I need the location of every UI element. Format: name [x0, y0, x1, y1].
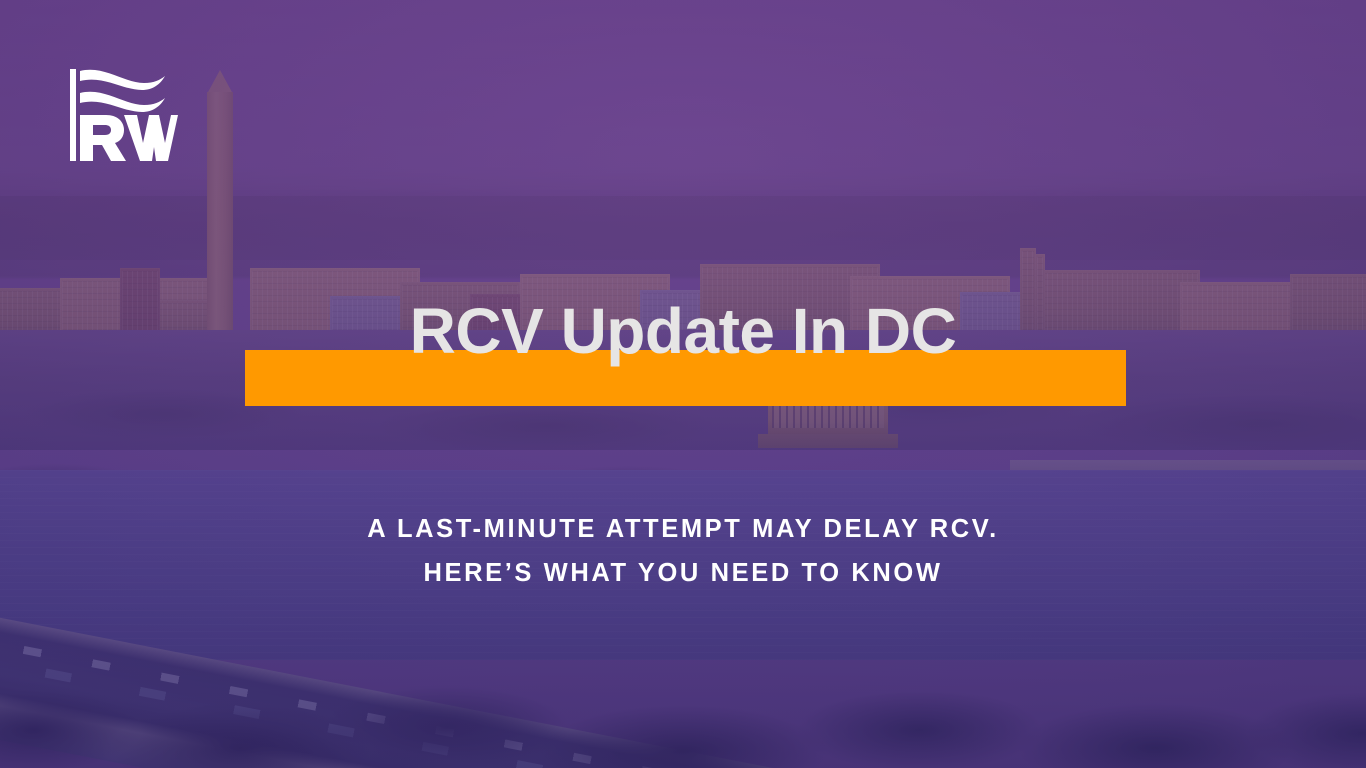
title-block: RCV Update In DC [0, 298, 1366, 366]
rw-logo[interactable] [66, 67, 178, 163]
hero-banner: RCV Update In DC A LAST-MINUTE ATTEMPT M… [0, 0, 1366, 768]
subtitle-line-1: A LAST-MINUTE ATTEMPT MAY DELAY RCV. [367, 515, 999, 543]
subtitle-line-2: HERE’S WHAT YOU NEED TO KNOW [0, 552, 1366, 596]
rw-flag-icon [66, 67, 178, 163]
subtitle-block: A LAST-MINUTE ATTEMPT MAY DELAY RCV. HER… [0, 508, 1366, 596]
page-title: RCV Update In DC [0, 298, 1366, 366]
